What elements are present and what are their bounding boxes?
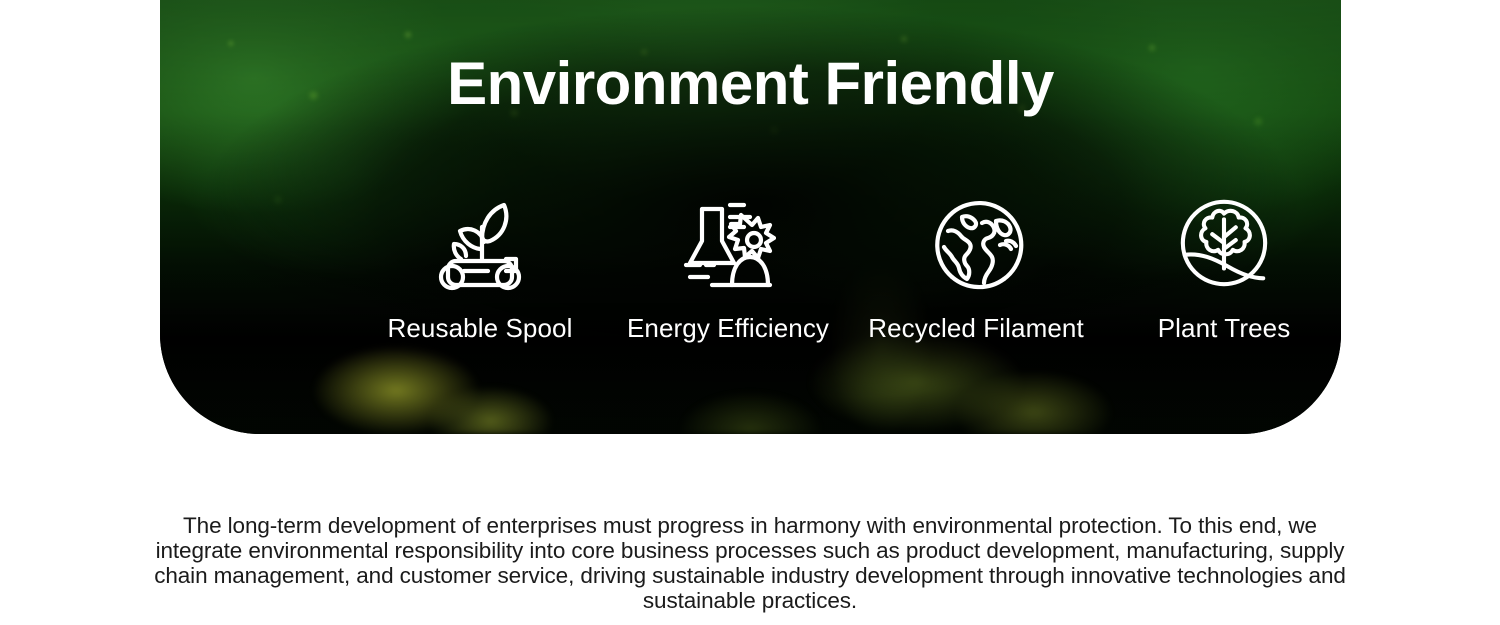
feature-list: Reusable Spool <box>356 190 1341 343</box>
hero-title: Environment Friendly <box>160 54 1341 114</box>
tree-circle-icon <box>1175 190 1273 296</box>
body-paragraph: The long-term development of enterprises… <box>150 513 1350 613</box>
plant-spool-icon <box>434 190 526 296</box>
feature-label-recycled-filament: Recycled Filament <box>868 314 1084 343</box>
feature-label-reusable-spool: Reusable Spool <box>388 314 573 343</box>
feature-item-plant-trees[interactable]: Plant Trees <box>1100 190 1341 343</box>
feature-label-energy-efficiency: Energy Efficiency <box>627 314 829 343</box>
feature-item-reusable-spool[interactable]: Reusable Spool <box>356 190 604 343</box>
factory-energy-icon <box>680 190 776 296</box>
feature-item-recycled-filament[interactable]: Recycled Filament <box>852 190 1100 343</box>
globe-icon <box>926 190 1026 296</box>
hero-banner: Environment Friendly <box>160 0 1341 434</box>
feature-label-plant-trees: Plant Trees <box>1158 314 1291 343</box>
feature-item-energy-efficiency[interactable]: Energy Efficiency <box>604 190 852 343</box>
